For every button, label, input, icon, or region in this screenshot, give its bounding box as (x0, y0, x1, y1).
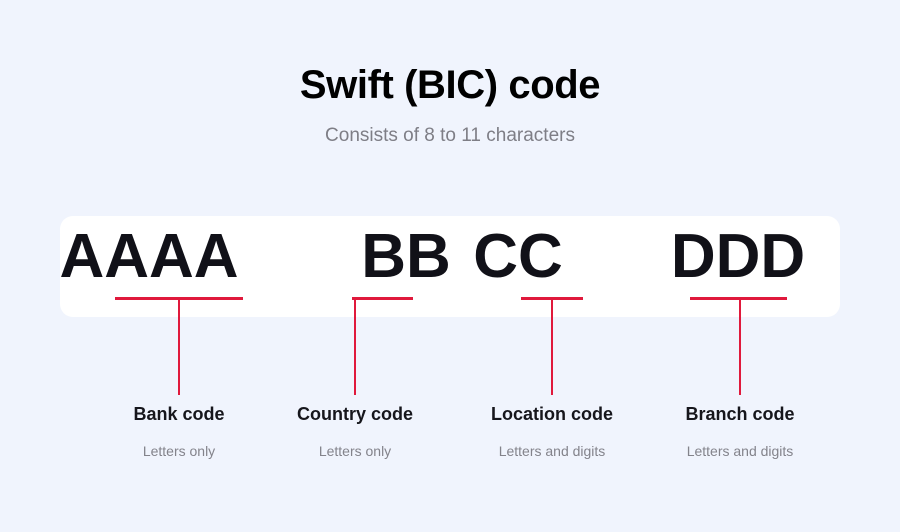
page-subtitle: Consists of 8 to 11 characters (0, 108, 900, 148)
segment-label-branch-code: Branch code (685, 404, 794, 426)
segment-sublabel-branch-code: Letters and digits (687, 443, 794, 460)
swift-bic-code-diagram: Swift (BIC) code Consists of 8 to 11 cha… (0, 0, 900, 532)
code-segment-bank-code: AAAA Bank code Letters only (60, 216, 298, 496)
page-title: Swift (BIC) code (0, 0, 900, 108)
code-segment-branch-code: DDD Branch code Letters and digits (636, 216, 840, 496)
segment-letters-location-code: CC (433, 216, 603, 297)
segment-label-location-code: Location code (491, 404, 613, 426)
segment-label-bank-code: Bank code (133, 404, 224, 426)
segment-sublabel-country-code: Letters only (319, 443, 391, 460)
segment-sublabel-bank-code: Letters only (143, 443, 215, 460)
segment-letters-branch-code: DDD (636, 216, 840, 297)
header: Swift (BIC) code Consists of 8 to 11 cha… (0, 0, 900, 148)
segment-label-country-code: Country code (297, 404, 413, 426)
segment-letters-bank-code: AAAA (30, 216, 268, 297)
segment-sublabel-location-code: Letters and digits (499, 443, 606, 460)
